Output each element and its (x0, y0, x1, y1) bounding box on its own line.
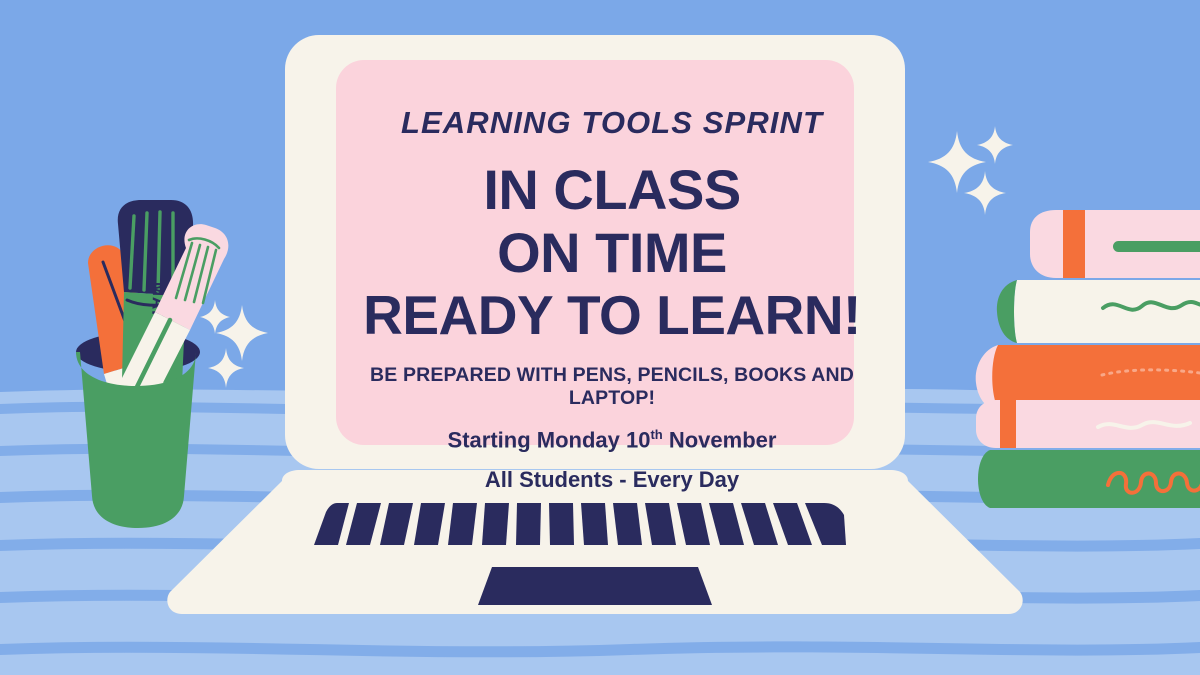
laptop (0, 0, 1200, 675)
poster-canvas: MARKER (0, 0, 1200, 675)
laptop-trackpad[interactable] (478, 567, 712, 605)
laptop-screen (336, 60, 854, 445)
